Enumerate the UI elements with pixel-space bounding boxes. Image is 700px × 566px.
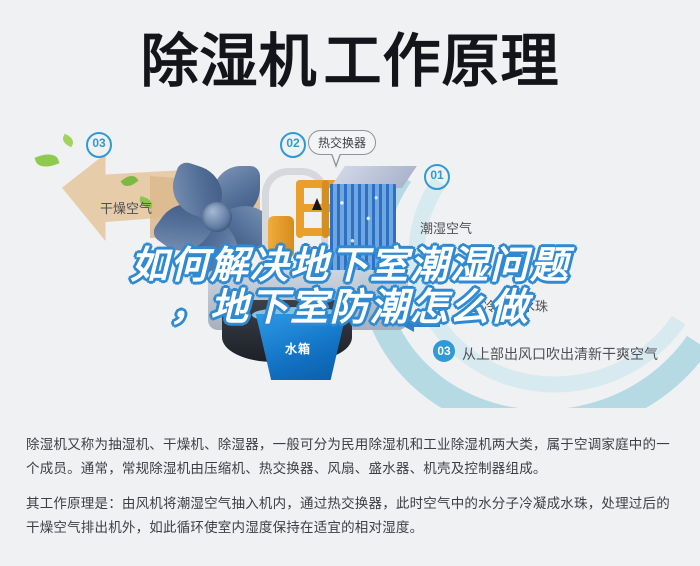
- step-badge-03: 03: [433, 340, 455, 362]
- callout-badge-02: 02: [280, 132, 306, 158]
- overlay-headline-line1: 如何解决地下室潮湿问题: [130, 245, 570, 287]
- overlay-headline-line2: ，地下室防潮怎么做: [0, 286, 700, 330]
- leaf-icon: [61, 134, 76, 148]
- coil-pipe: [296, 180, 304, 238]
- body-paragraph-2: 其工作原理是：由风机将潮湿空气抽入机内，通过热交换器，此时空气中的水分子冷凝成水…: [26, 492, 676, 540]
- callout-label-humid-air: 潮湿空气: [420, 218, 472, 237]
- fan-hub: [202, 202, 232, 232]
- step-text-03: 从上部出风口吹出清新干爽空气: [462, 344, 658, 364]
- water-tank-label: 水箱: [250, 340, 346, 357]
- callout-label-dry-air: 干燥空气: [100, 198, 152, 217]
- callout-badge-01: 01: [424, 164, 450, 190]
- overlay-headline: 如何解决地下室潮湿问题 ，地下室防潮怎么做: [0, 244, 700, 330]
- page-title: 除湿机工作原理: [0, 28, 700, 96]
- page-root: 除湿机工作原理: [0, 0, 700, 566]
- callout-badge-03: 03: [86, 132, 112, 158]
- flow-arrow-up-icon: [312, 198, 322, 210]
- page-title-part1: 除湿机: [140, 29, 317, 94]
- body-paragraph-1: 除湿机又称为抽湿机、干燥机、除湿器，一般可分为民用除湿机和工业除湿机两大类，属于…: [26, 433, 676, 481]
- callout-label-heat-exchanger: 热交换器: [308, 130, 376, 155]
- leaf-icon: [35, 151, 60, 170]
- page-title-part2: 工作原理: [324, 29, 560, 94]
- coil-pipe: [322, 180, 329, 238]
